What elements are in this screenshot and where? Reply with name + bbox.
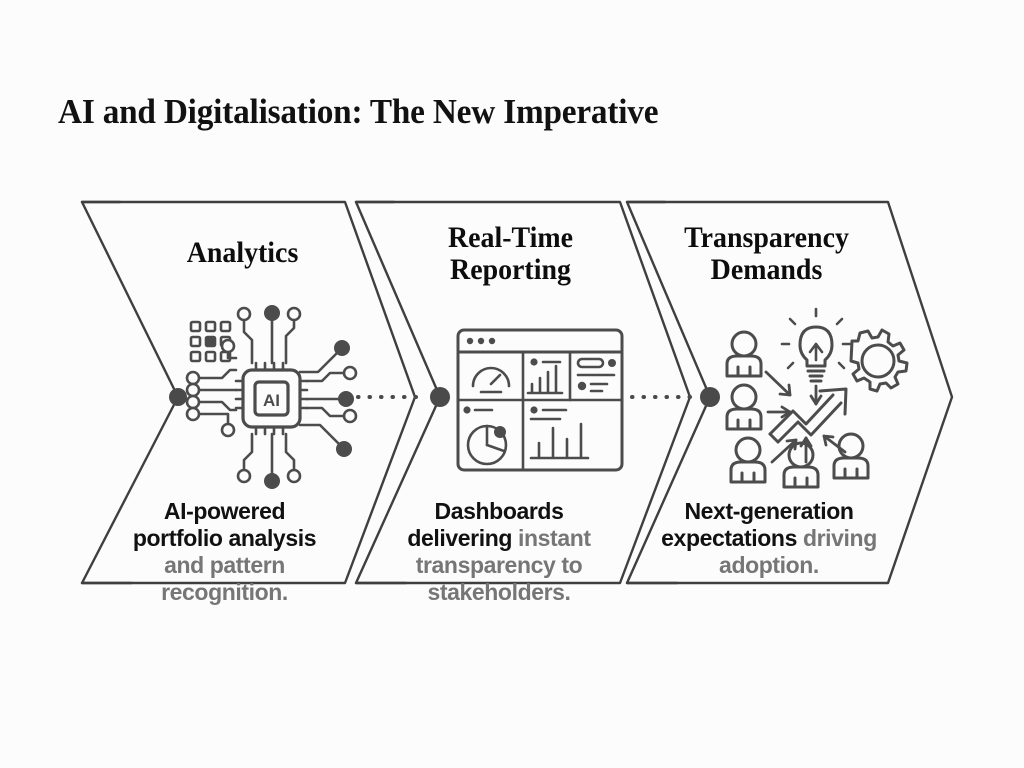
person-icon-4 <box>784 443 818 487</box>
stage-caption-real-time-reporting: Dashboards delivering instant transparen… <box>385 498 613 606</box>
stage-node-dot-2 <box>430 387 450 407</box>
person-icon-5 <box>834 434 868 478</box>
chevron-process-diagram: AI <box>0 0 1024 768</box>
stage-caption-transparency-demands: Next-generation expectations driving ado… <box>645 498 893 579</box>
svg-text:AI: AI <box>263 391 280 410</box>
stage-title-analytics: Analytics <box>156 237 328 269</box>
lightbulb-icon <box>782 309 850 381</box>
stage-title-real-time-reporting: Real-Time Reporting <box>424 222 596 287</box>
person-icon-2 <box>727 385 761 429</box>
stage-title-transparency-demands: Transparency Demands <box>654 222 880 287</box>
stage-caption-strong-analytics: AI-powered portfolio analysis <box>133 498 316 551</box>
diagram-graphics: AI <box>0 0 1024 768</box>
converging-arrows <box>766 372 845 462</box>
stage-node-dot-1 <box>169 388 187 406</box>
person-icon-1 <box>727 332 761 376</box>
ai-chip-icon: AI <box>187 305 356 489</box>
stakeholder-growth-icon <box>727 309 907 487</box>
person-icon-3 <box>731 438 765 482</box>
stage-caption-analytics: AI-powered portfolio analysis and patter… <box>117 498 332 606</box>
dashboard-icon <box>458 330 622 470</box>
stage-node-dot-3 <box>700 387 720 407</box>
growth-arrow-icon <box>770 389 846 442</box>
stage-caption-soft-analytics: and pattern recognition. <box>161 552 288 605</box>
slide-canvas: AI and Digitalisation: The New Imperativ… <box>0 0 1024 768</box>
gear-icon <box>851 330 907 391</box>
